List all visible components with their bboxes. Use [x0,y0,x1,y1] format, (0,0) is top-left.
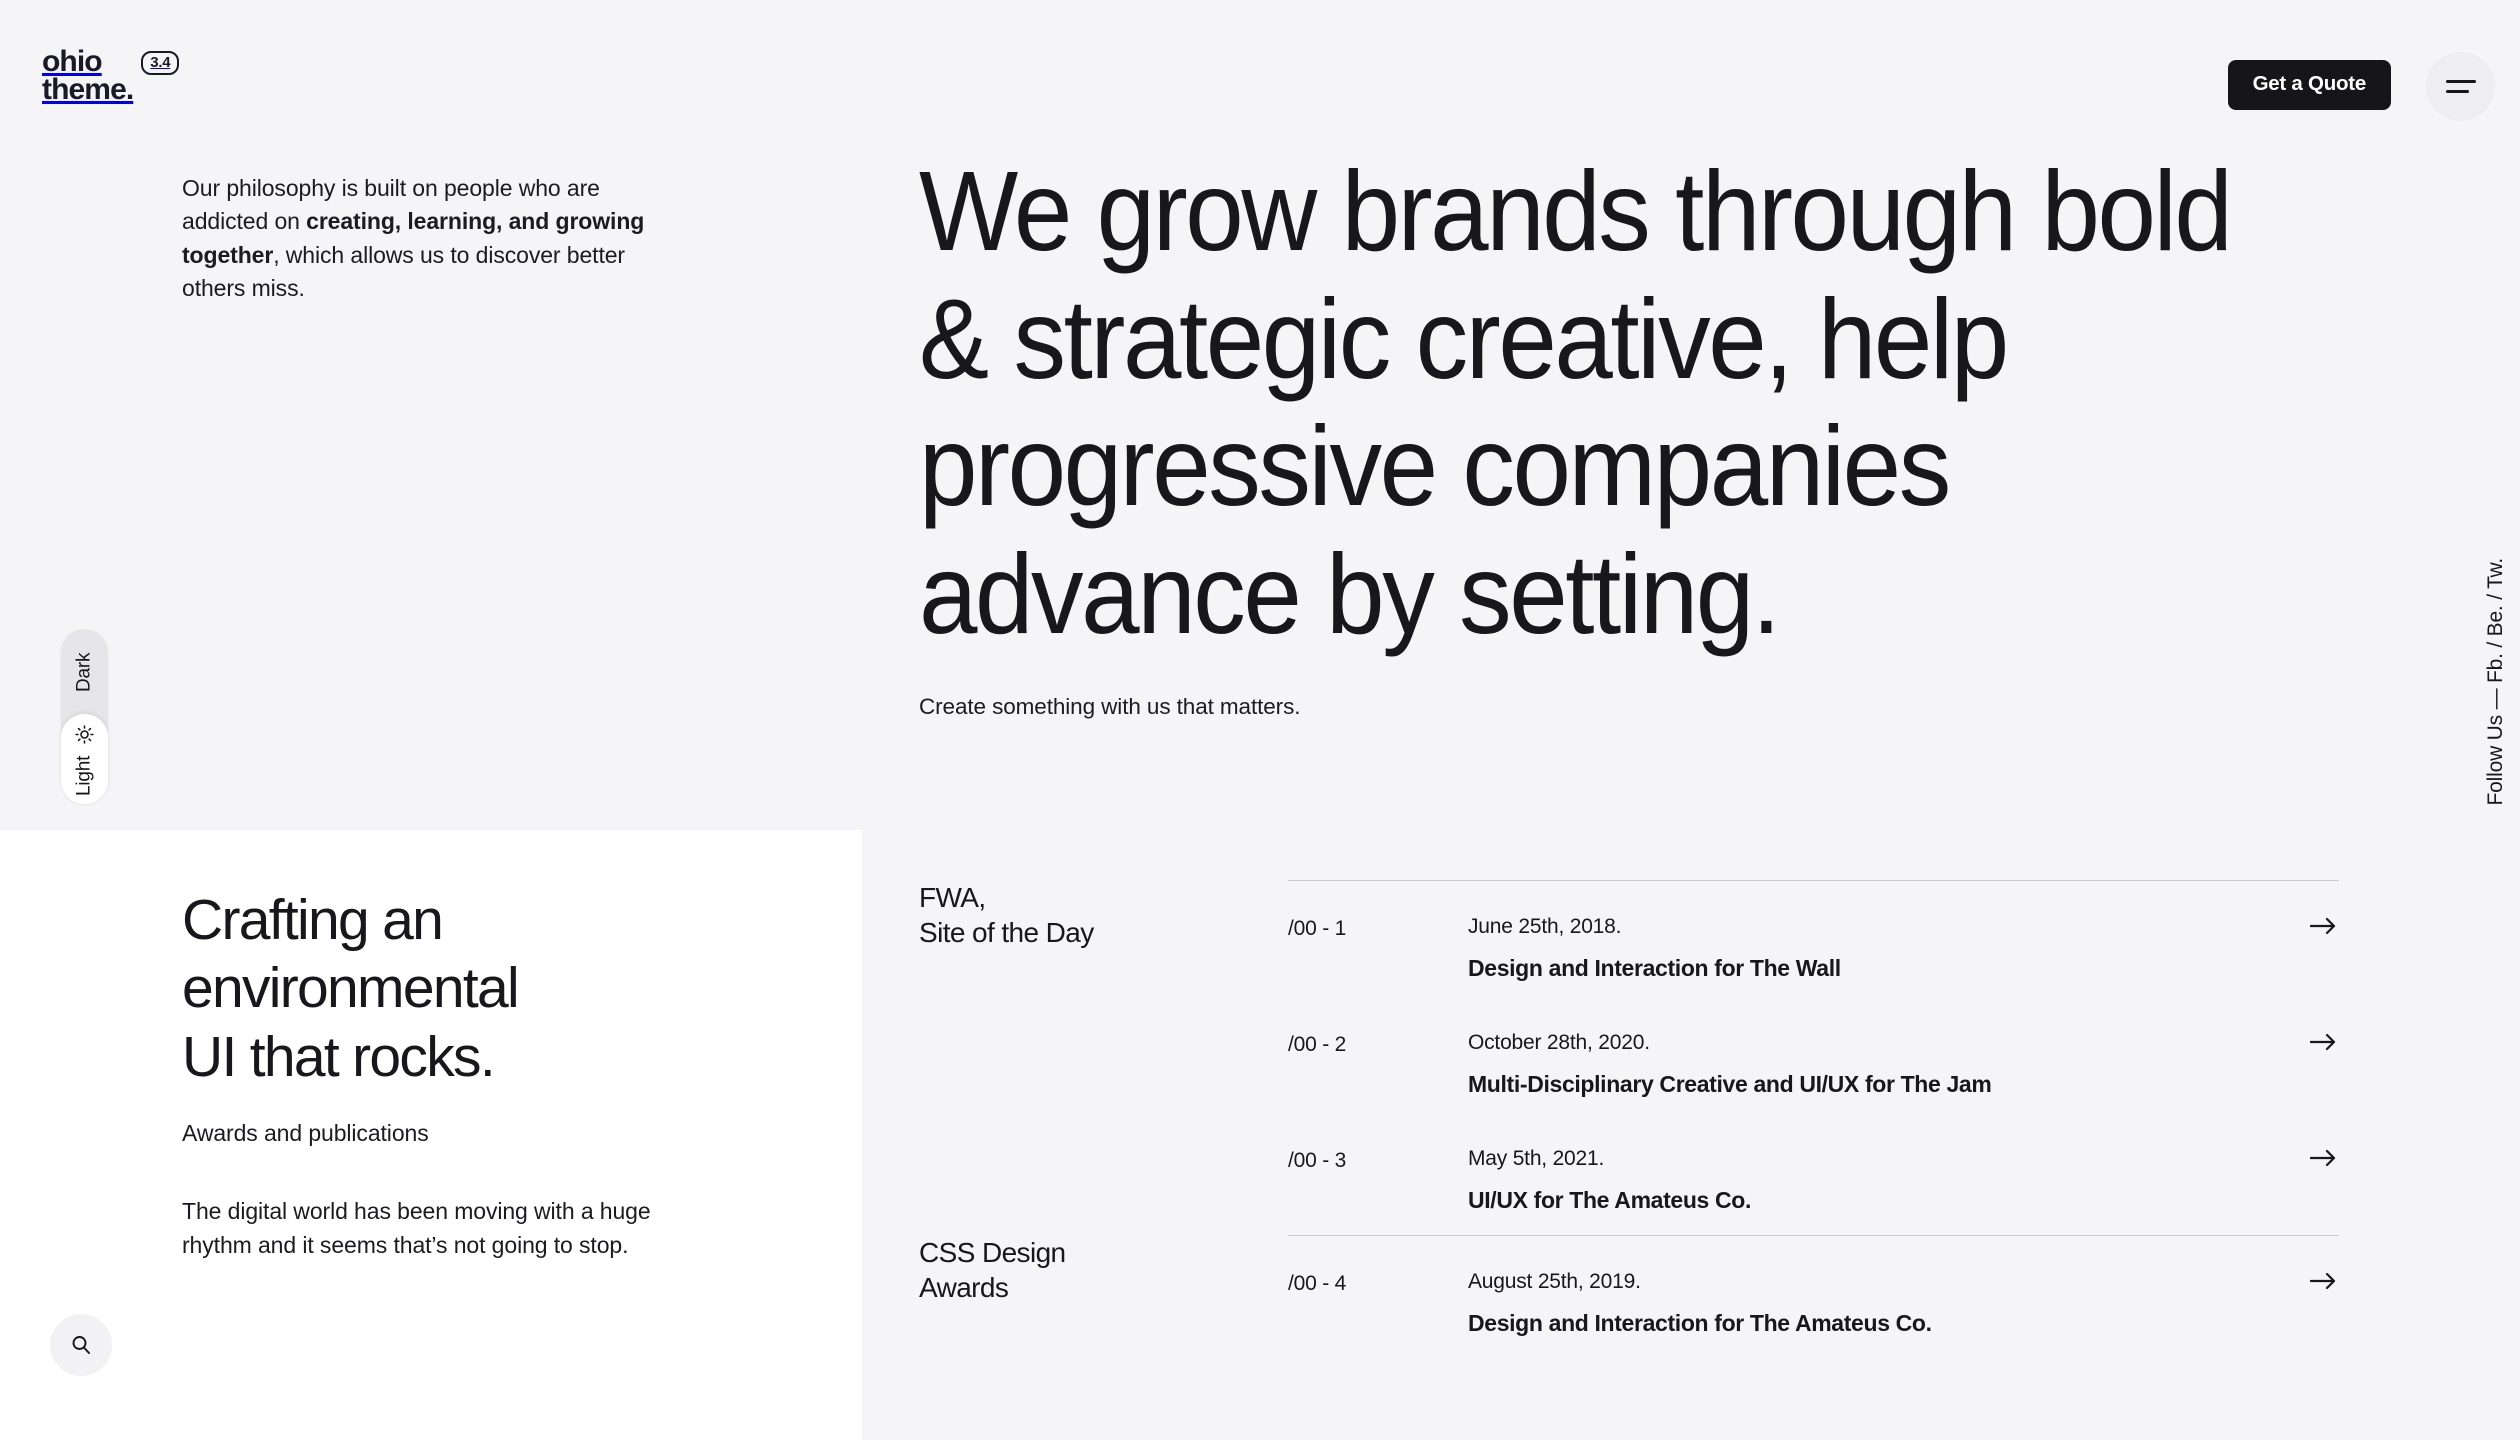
hero-section: We grow brands through bold & strategic … [919,148,2339,720]
arrow-right-icon[interactable] [2310,1032,2337,1057]
crafting-body: The digital world has been moving with a… [182,1195,692,1262]
award-row-content: June 25th, 2018. Design and Interaction … [1468,915,2339,982]
award-row-content: August 25th, 2019. Design and Interactio… [1468,1270,2339,1337]
theme-mode-toggle[interactable]: Dark Light [61,629,108,804]
award-group-css-design-awards: CSS Design Awards /00 - 4 August 25th, 2… [919,1235,2339,1352]
award-group-label: CSS Design Awards [919,1235,1239,1306]
award-row-date: August 25th, 2019. [1468,1270,2339,1294]
award-row-content: May 5th, 2021. UI/UX for The Amateus Co. [1468,1147,2339,1214]
hamburger-menu-button[interactable] [2426,52,2495,121]
hero-title: We grow brands through bold & strategic … [919,148,2240,659]
search-button[interactable] [50,1314,112,1376]
crafting-subtitle: Awards and publications [182,1120,822,1147]
get-a-quote-button[interactable]: Get a Quote [2228,60,2391,110]
award-group-rows: /00 - 4 August 25th, 2019. Design and In… [1288,1235,2339,1352]
award-row-title: Design and Interaction for The Wall [1468,955,2339,982]
hamburger-icon-bar-bottom [2446,90,2469,93]
award-row[interactable]: /00 - 1 June 25th, 2018. Design and Inte… [1288,881,2339,997]
award-group-fwa: FWA, Site of the Day /00 - 1 June 25th, … [919,880,2339,1229]
award-row-title: Multi-Disciplinary Creative and UI/UX fo… [1468,1071,2339,1098]
theme-option-light[interactable]: Light [61,714,108,804]
crafting-section: Crafting an environmental UI that rocks.… [182,886,822,1262]
award-row-number: /00 - 3 [1288,1147,1468,1173]
award-row-title: Design and Interaction for The Amateus C… [1468,1310,2339,1337]
award-row[interactable]: /00 - 3 May 5th, 2021. UI/UX for The Ama… [1288,1113,2339,1229]
award-row[interactable]: /00 - 2 October 28th, 2020. Multi-Discip… [1288,997,2339,1113]
award-row-number: /00 - 4 [1288,1270,1468,1296]
page-root: ohio theme. 3.4 Get a Quote Our philosop… [0,0,2520,1440]
award-row-date: October 28th, 2020. [1468,1031,2339,1055]
brand-logo[interactable]: ohio theme. 3.4 [42,48,179,103]
award-row-date: June 25th, 2018. [1468,915,2339,939]
hamburger-icon-bar-top [2446,80,2476,83]
hero-subtitle: Create something with us that matters. [919,694,2339,720]
philosophy-paragraph: Our philosophy is built on people who ar… [182,172,692,305]
award-group-label: FWA, Site of the Day [919,880,1239,951]
arrow-right-icon[interactable] [2310,1271,2337,1296]
award-group-rows: /00 - 1 June 25th, 2018. Design and Inte… [1288,880,2339,1229]
arrow-right-icon[interactable] [2310,1148,2337,1173]
award-row-date: May 5th, 2021. [1468,1147,2339,1171]
theme-option-light-label: Light [74,755,96,795]
search-icon [69,1333,93,1357]
follow-us-social-links[interactable]: Follow Us — Fb. / Be. / Tw. [2484,558,2508,805]
award-row-content: October 28th, 2020. Multi-Disciplinary C… [1468,1031,2339,1098]
award-row-number: /00 - 2 [1288,1031,1468,1057]
theme-option-dark[interactable]: Dark [61,629,108,716]
arrow-right-icon[interactable] [2310,916,2337,941]
sun-icon [74,724,95,745]
award-row[interactable]: /00 - 4 August 25th, 2019. Design and In… [1288,1236,2339,1352]
award-row-title: UI/UX for The Amateus Co. [1468,1187,2339,1214]
awards-list: FWA, Site of the Day /00 - 1 June 25th, … [919,880,2339,1352]
brand-logo-text: ohio theme. [42,48,133,103]
award-row-number: /00 - 1 [1288,915,1468,941]
version-badge: 3.4 [141,51,179,75]
theme-option-dark-label: Dark [74,653,96,692]
crafting-title: Crafting an environmental UI that rocks. [182,886,822,1091]
